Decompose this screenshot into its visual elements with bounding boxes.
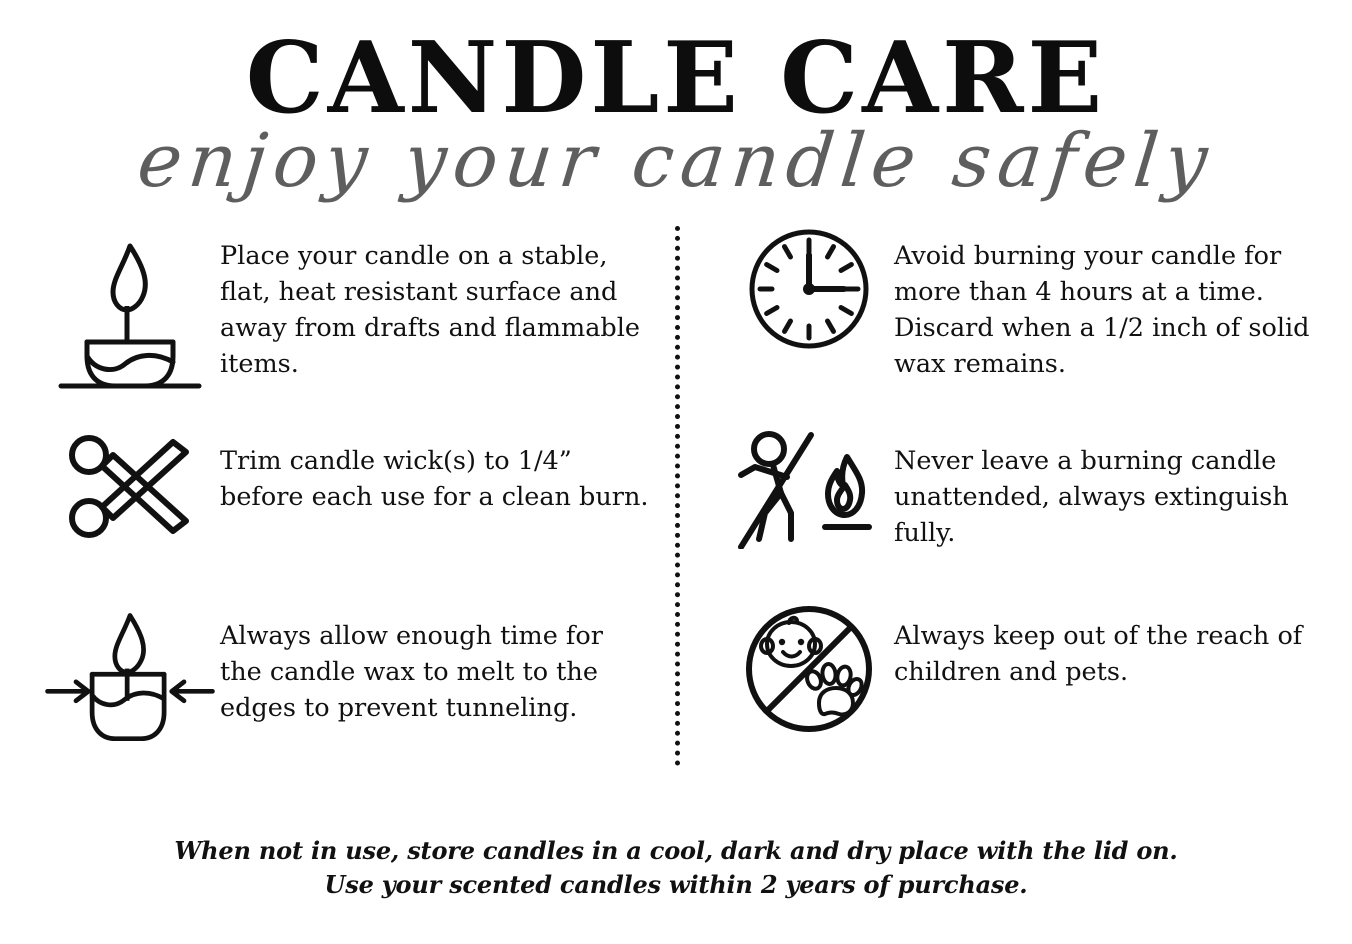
right-column: Avoid burning your candle for more than … xyxy=(676,220,1352,760)
person-walking-away-from-fire-icon xyxy=(724,425,894,549)
tip-item: Trim candle wick(s) to 1/4” before each … xyxy=(40,425,650,600)
header: CANDLE CARE enjoy your candle safely xyxy=(0,0,1352,198)
footer: When not in use, store candles in a cool… xyxy=(0,834,1352,902)
tip-item: Always keep out of the reach of children… xyxy=(724,600,1312,760)
page-title: CANDLE CARE xyxy=(0,30,1352,128)
candle-tunneling-arrows-icon xyxy=(40,600,220,754)
tip-text: Always keep out of the reach of children… xyxy=(894,600,1312,690)
tip-text: Avoid burning your candle for more than … xyxy=(894,220,1312,382)
footer-line-2: Use your scented candles within 2 years … xyxy=(0,868,1352,902)
tip-text: Always allow enough time for the candle … xyxy=(220,600,650,726)
candle-on-surface-icon xyxy=(40,220,220,389)
tip-text: Never leave a burning candle unattended,… xyxy=(894,425,1312,551)
tip-item: Never leave a burning candle unattended,… xyxy=(724,425,1312,600)
scissors-icon xyxy=(40,425,220,544)
tip-item: Avoid burning your candle for more than … xyxy=(724,220,1312,425)
no-children-or-pets-icon xyxy=(724,600,894,734)
left-column: Place your candle on a stable, flat, hea… xyxy=(0,220,676,760)
column-divider xyxy=(675,226,680,766)
tips-grid: Place your candle on a stable, flat, hea… xyxy=(0,220,1352,760)
footer-line-1: When not in use, store candles in a cool… xyxy=(0,834,1352,868)
tip-item: Place your candle on a stable, flat, hea… xyxy=(40,220,650,425)
tip-item: Always allow enough time for the candle … xyxy=(40,600,650,760)
clock-icon xyxy=(724,220,894,354)
tip-text: Trim candle wick(s) to 1/4” before each … xyxy=(220,425,650,515)
tip-text: Place your candle on a stable, flat, hea… xyxy=(220,220,650,382)
page-subtitle: enjoy your candle safely xyxy=(0,124,1352,198)
